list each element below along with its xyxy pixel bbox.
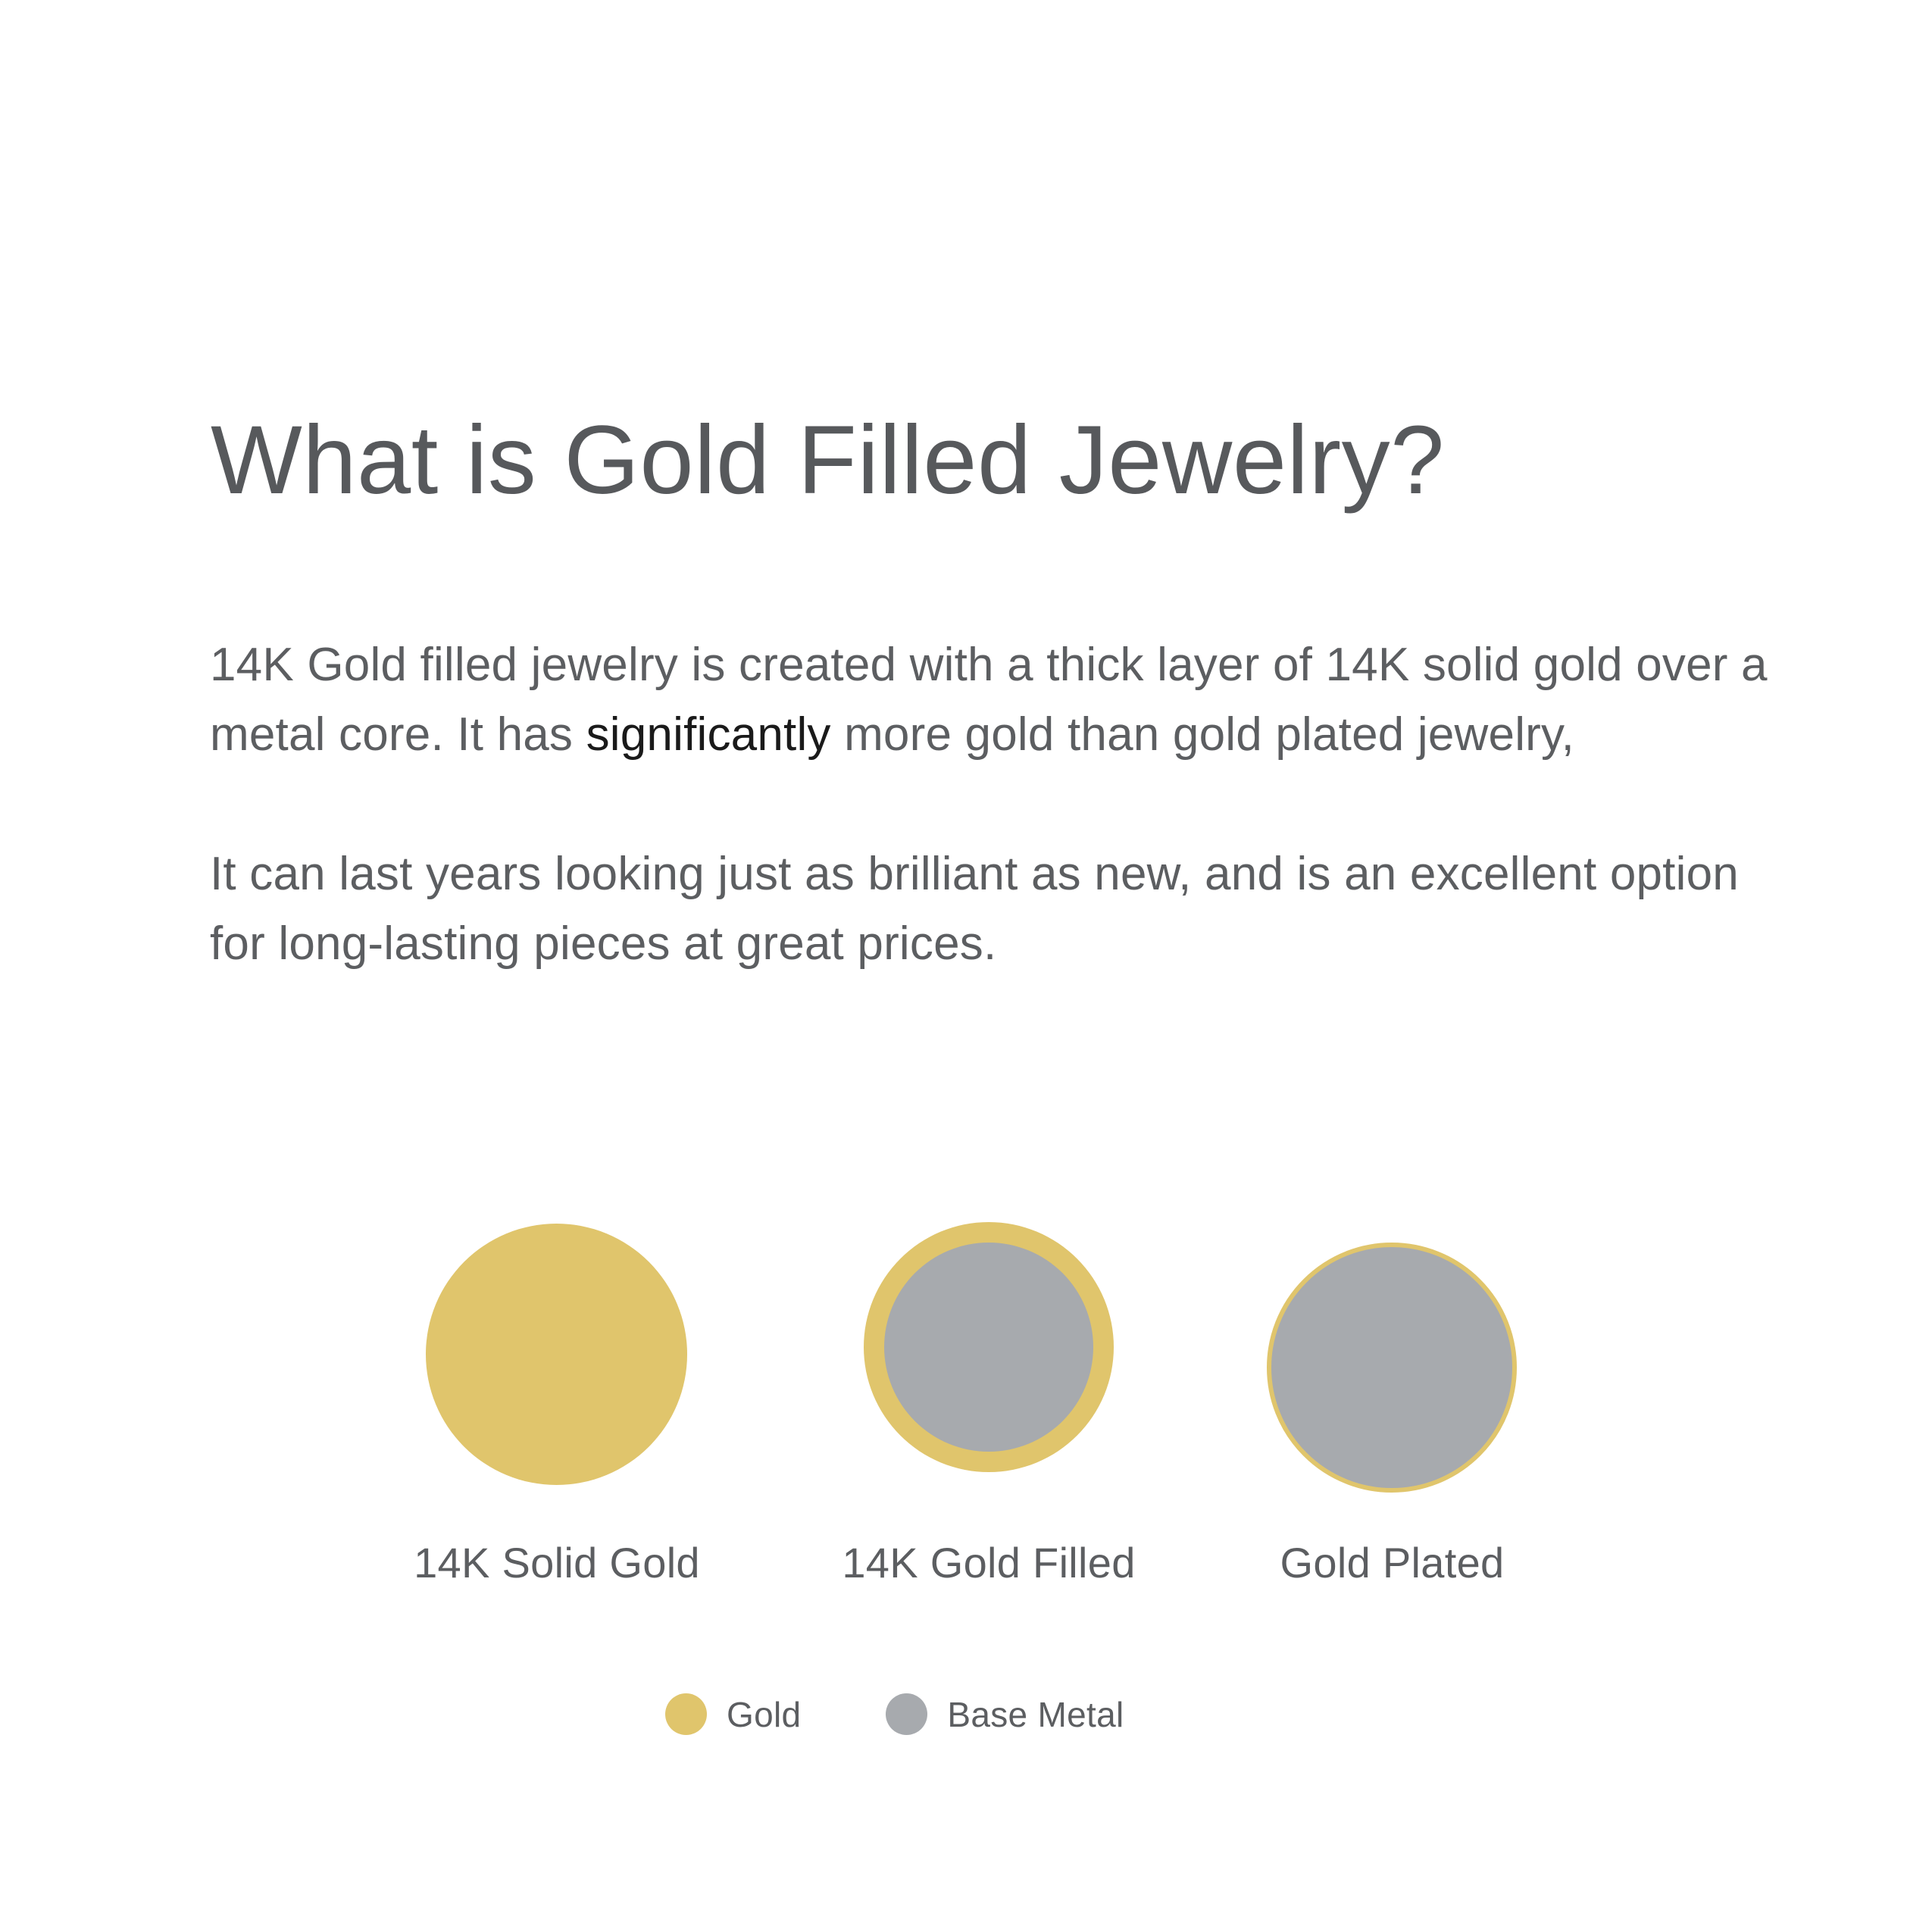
legend-label-base-metal: Base Metal (947, 1694, 1124, 1735)
body-copy: 14K Gold filled jewelry is created with … (210, 630, 1771, 979)
legend-item-gold: Gold (665, 1693, 801, 1735)
solid-gold-circle-icon (426, 1224, 687, 1485)
paragraph-1-text-after: more gold than gold plated jewelry, (831, 708, 1574, 761)
page-title: What is Gold Filled Jewelry? (211, 408, 1802, 514)
base-metal-dot-icon (886, 1693, 927, 1735)
gold-dot-icon (665, 1693, 707, 1735)
swatch-label-gold-filled: 14K Gold Filled (822, 1538, 1155, 1587)
paragraph-spacer (210, 770, 1771, 839)
swatch-label-gold-plated: Gold Plated (1258, 1538, 1527, 1587)
legend-item-base-metal: Base Metal (886, 1693, 1124, 1735)
gold-plated-circle-icon (1267, 1243, 1517, 1493)
legend-label-gold: Gold (727, 1694, 801, 1735)
paragraph-2: It can last years looking just as brilli… (210, 839, 1771, 979)
legend: Gold Base Metal (665, 1693, 1124, 1735)
paragraph-1-emphasis: significantly (586, 708, 831, 761)
infographic-page: What is Gold Filled Jewelry? 14K Gold fi… (0, 0, 1932, 1932)
paragraph-1: 14K Gold filled jewelry is created with … (210, 630, 1771, 770)
swatch-label-solid-gold: 14K Solid Gold (394, 1538, 720, 1587)
gold-filled-core-icon (884, 1243, 1093, 1452)
